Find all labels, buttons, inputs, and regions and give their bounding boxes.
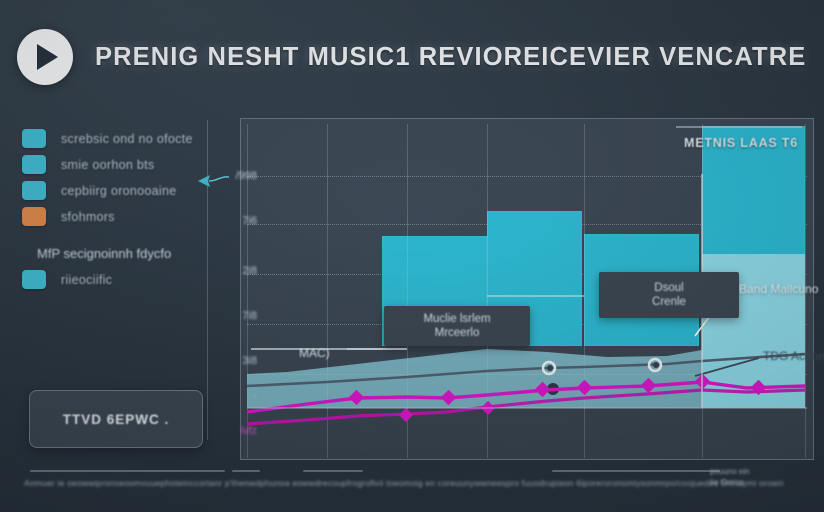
line-slate-marker [653, 362, 659, 368]
footer-right-line-2: Iie Orn'co [710, 477, 810, 488]
page-title: PRENIG NESHT MUSIC1 REVIOREICEVIER VENCA… [95, 43, 806, 72]
tooltip-line-2: Crenle [652, 295, 686, 309]
tooltip-line-1: Muclie lsrlem [423, 312, 490, 326]
chart-annotation: Band Mallcuno [739, 282, 818, 296]
info-card[interactable]: TTVD 6EPWC . [29, 390, 203, 448]
legend-item[interactable]: cepbiirg oronooaine [22, 179, 222, 202]
legend-item-label: cepbiirg oronooaine [61, 184, 177, 198]
play-icon[interactable] [17, 29, 73, 85]
footer-rule [30, 470, 225, 472]
chart-tooltip-secondary: Dsoul Crenle [599, 272, 739, 318]
legend-group-heading: MfP secignoinnh fdycfo [22, 242, 222, 265]
legend-swatch-icon [22, 129, 46, 148]
legend: screbsic ond no ofocte smie oorhon bts c… [22, 127, 222, 294]
footer-right-line-1: pouuno ein [710, 466, 810, 477]
chart-annotation: TDG Acabedar [763, 349, 824, 363]
legend-swatch-icon [22, 181, 46, 200]
header: PRENIG NESHT MUSIC1 REVIOREICEVIER VENCA… [0, 14, 824, 100]
legend-spacer [22, 231, 222, 242]
info-card-label: TTVD 6EPWC . [63, 412, 170, 427]
dashboard-root: PRENIG NESHT MUSIC1 REVIOREICEVIER VENCA… [0, 0, 824, 512]
chart-tooltip-primary: Muclie lsrlem Mrceerlo [384, 306, 530, 346]
legend-item[interactable]: riieociific [22, 268, 222, 291]
legend-swatch-icon [22, 270, 46, 289]
legend-item[interactable]: smie oorhon bts [22, 153, 222, 176]
tooltip-line-2: Mrceerlo [435, 326, 480, 340]
footer-rule [232, 470, 260, 472]
footer-right-note: pouuno ein Iie Orn'co [710, 466, 810, 488]
legend-item-label: smie oorhon bts [61, 158, 154, 172]
tooltip-line-1: Dsoul [654, 281, 683, 295]
legend-item[interactable]: screbsic ond no ofocte [22, 127, 222, 150]
legend-item-label: sfohmors [61, 210, 115, 224]
plot-area: MAC) Muclie lsrlem Mrceerlo Dsoul Crenle… [247, 124, 807, 458]
footer-caption: Anmuer ie oeowwipronoeoomvuuephoteinccor… [24, 478, 784, 488]
series-label: MAC) [299, 346, 330, 360]
line-slate-marker [547, 365, 553, 371]
legend-swatch-icon [22, 207, 46, 226]
legend-group-heading-label: MfP secignoinnh fdycfo [37, 246, 171, 261]
legend-item[interactable]: sfohmors [22, 205, 222, 228]
legend-divider [207, 120, 208, 440]
legend-item-label: riieociific [61, 273, 112, 287]
footer-rule [303, 470, 363, 472]
footer-rule [552, 470, 720, 472]
play-triangle [37, 44, 58, 70]
legend-item-label: screbsic ond no ofocte [61, 132, 193, 146]
legend-swatch-icon [22, 155, 46, 174]
